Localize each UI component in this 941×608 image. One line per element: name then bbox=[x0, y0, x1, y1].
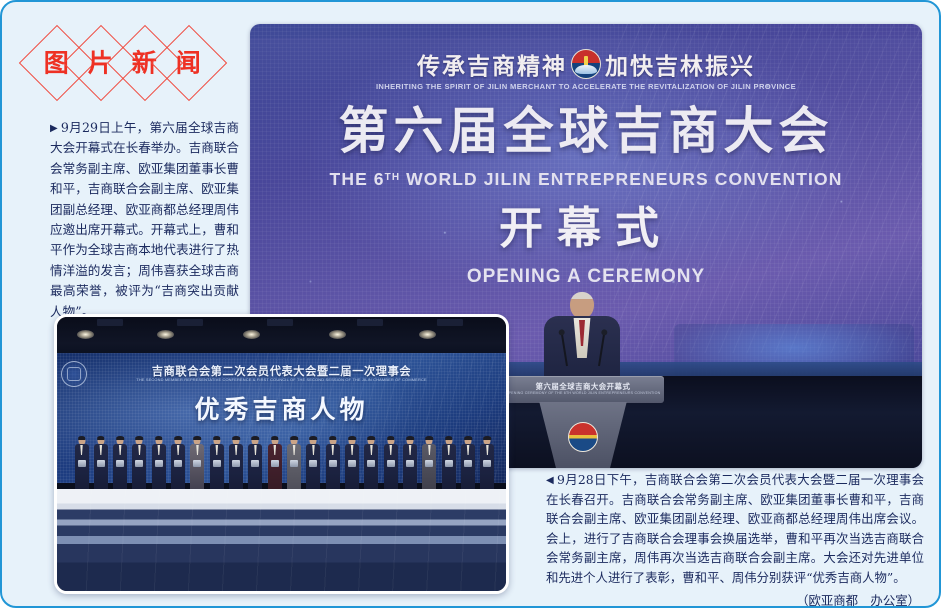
right-article-signature: （欧亚商都 办公室） bbox=[524, 591, 924, 608]
ceremony-subtitle-cn: 开幕式 bbox=[250, 207, 922, 251]
award-title-cn: 优秀吉商人物 bbox=[57, 397, 506, 422]
awardee-figure bbox=[266, 437, 283, 497]
awardee-figure bbox=[247, 437, 264, 497]
left-triangle-icon: ◀ bbox=[546, 475, 554, 486]
right-article-text: 9月28日下午，吉商联合会第二次会员代表大会暨二届一次理事会在长春召开。吉商联合… bbox=[546, 472, 924, 585]
banner-slogan-right: 加快吉林振兴 bbox=[605, 47, 755, 81]
awardee-figure bbox=[150, 437, 167, 497]
awardee-figure bbox=[286, 437, 303, 497]
awardee-figure bbox=[324, 437, 341, 497]
floor-reflection-lines bbox=[57, 489, 506, 591]
banner-slogan-english: INHERITING THE SPIRIT OF JILIN MERCHANT … bbox=[250, 82, 922, 91]
stage-floor bbox=[57, 489, 506, 591]
left-article-body: ▶9月29日上午，第六届全球吉商大会开幕式在长春举办。吉商联合会常务副主席、欧亚… bbox=[50, 118, 239, 322]
ceiling-spotlight-3 bbox=[243, 330, 260, 339]
newspaper-page: 图 片 新 闻 ▶9月29日上午，第六届全球吉商大会开幕式在长春举办。吉商联合会… bbox=[0, 0, 941, 608]
masthead-char-4: 闻 bbox=[176, 50, 201, 75]
awardee-figure bbox=[440, 437, 457, 497]
photo-award-group: 吉商联合会第二次会员代表大会暨二届一次理事会 THE SECOND MEMBER… bbox=[54, 314, 509, 594]
awardee-figure bbox=[112, 437, 129, 497]
awardee-figure bbox=[73, 437, 90, 497]
awardee-figure bbox=[344, 437, 361, 497]
ceiling-spotlight-1 bbox=[77, 330, 94, 339]
convention-title-en: THE 6TH WORLD JILIN ENTREPRENEURS CONVEN… bbox=[250, 169, 922, 190]
awardee-figure bbox=[382, 437, 399, 497]
speaker-figure bbox=[536, 292, 628, 384]
left-article: ▶9月29日上午，第六届全球吉商大会开幕式在长春举办。吉商联合会常务副主席、欧亚… bbox=[26, 118, 239, 345]
awardee-figure bbox=[131, 437, 148, 497]
jilin-chamber-emblem-icon bbox=[571, 49, 601, 79]
title-en-ordinal: TH bbox=[385, 172, 401, 183]
masthead-diamond-4: 闻 bbox=[151, 25, 227, 101]
speaker-head bbox=[570, 292, 594, 319]
awardees-row bbox=[73, 435, 496, 497]
awardee-figure bbox=[228, 437, 245, 497]
awardee-figure bbox=[363, 437, 380, 497]
awardee-figure bbox=[402, 437, 419, 497]
convention-title-cn: 第六届全球吉商大会 bbox=[250, 106, 922, 156]
ceiling-spotlight-5 bbox=[419, 330, 436, 339]
hall-ceiling bbox=[57, 317, 506, 355]
banner-slogan-left: 传承吉商精神 bbox=[417, 47, 567, 81]
right-triangle-icon: ▶ bbox=[50, 123, 58, 134]
ceiling-spotlight-4 bbox=[329, 330, 346, 339]
title-en-prefix: THE 6 bbox=[330, 169, 385, 189]
awardee-figure bbox=[460, 437, 477, 497]
title-en-rest: WORLD JILIN ENTREPRENEURS CONVENTION bbox=[400, 169, 842, 189]
awardee-figure bbox=[421, 437, 438, 497]
podium: 第六届全球吉商大会开幕式 OPENING CEREMONY OF THE 6TH… bbox=[502, 376, 664, 468]
awardee-figure bbox=[305, 437, 322, 497]
podium-emblem-icon bbox=[568, 422, 598, 452]
awardee-figure bbox=[170, 437, 187, 497]
awardee-figure bbox=[208, 437, 225, 497]
awardee-figure bbox=[479, 437, 496, 497]
podium-text-en: OPENING CEREMONY OF THE 6TH WORLD JILIN … bbox=[502, 391, 664, 395]
podium-front-panel: 第六届全球吉商大会开幕式 OPENING CEREMONY OF THE 6TH… bbox=[502, 376, 664, 403]
right-article: ◀9月28日下午，吉商联合会第二次会员代表大会暨二届一次理事会在长春召开。吉商联… bbox=[524, 470, 924, 608]
awardee-figure bbox=[92, 437, 109, 497]
left-article-text: 9月29日上午，第六届全球吉商大会开幕式在长春举办。吉商联合会常务副主席、欧亚集… bbox=[50, 120, 239, 319]
ceiling-spotlight-2 bbox=[157, 330, 174, 339]
conference-header-en: THE SECOND MEMBER REPRESENTATIVE CONFERE… bbox=[57, 377, 506, 382]
masthead: 图 片 新 闻 bbox=[30, 36, 206, 90]
awardee-figure bbox=[189, 437, 206, 497]
right-article-body: ◀9月28日下午，吉商联合会第二次会员代表大会暨二届一次理事会在长春召开。吉商联… bbox=[546, 470, 924, 588]
ceremony-subtitle-en: OPENING A CEREMONY bbox=[250, 266, 922, 288]
